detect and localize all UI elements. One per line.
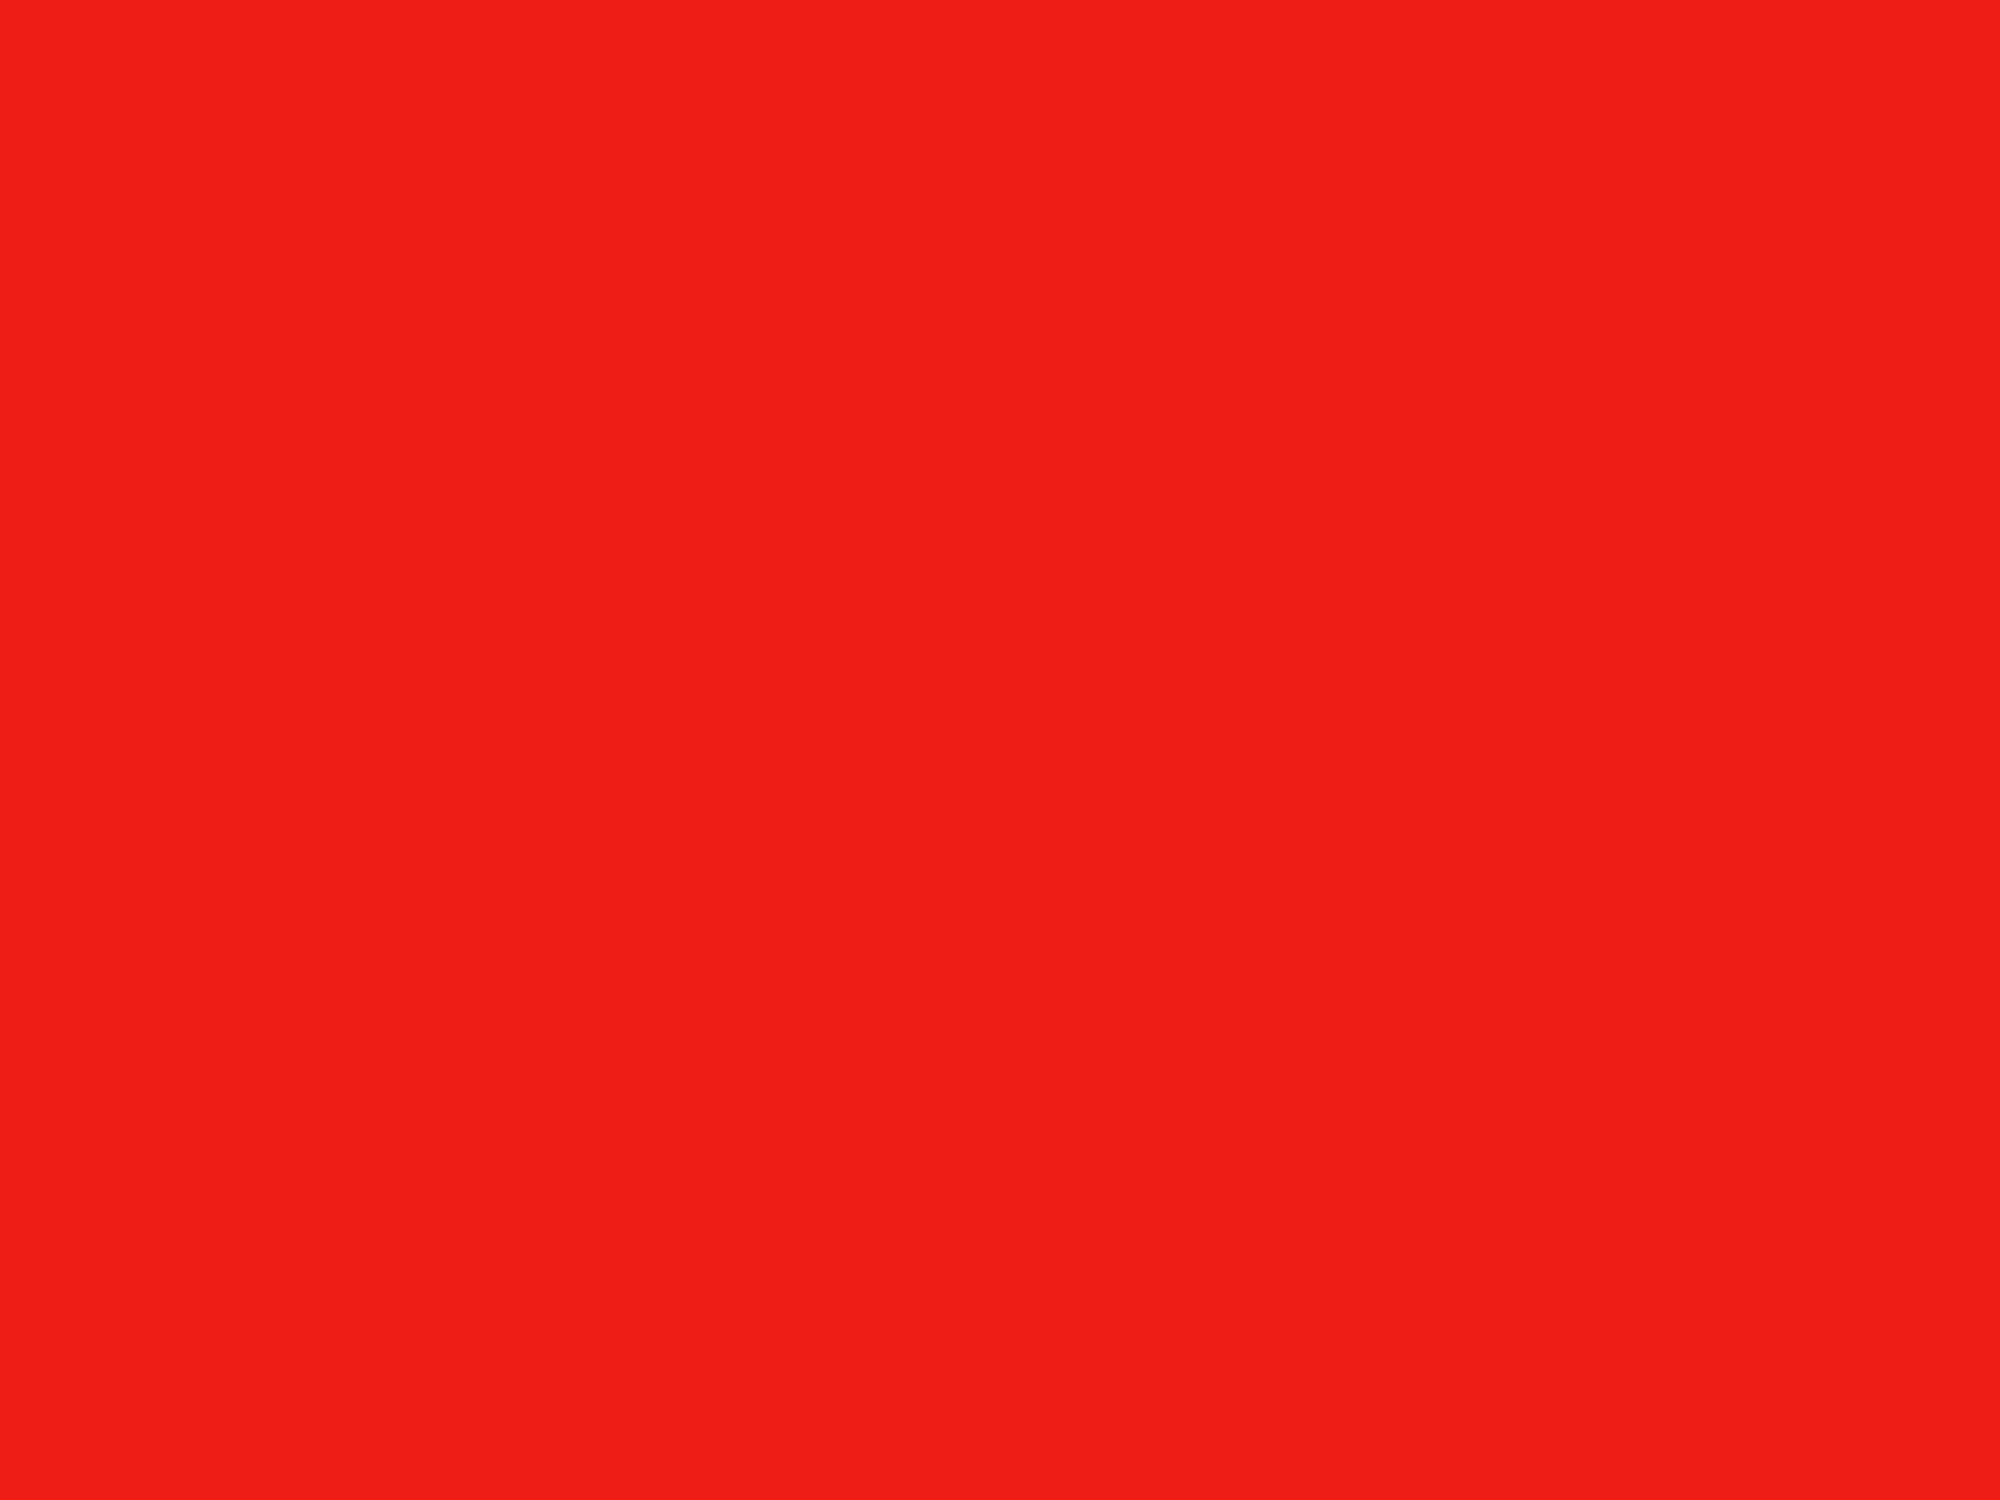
led-row-value <box>940 965 1014 971</box>
banner-segment <box>628 1249 647 1291</box>
ceiling-point-light <box>850 394 868 416</box>
ceiling-point-light <box>962 314 981 337</box>
ceiling-point-light <box>594 140 616 166</box>
led-text-block <box>870 973 888 983</box>
arrow-right-icon <box>456 1386 486 1428</box>
led-rank-column <box>910 927 935 977</box>
ceiling-point-light <box>744 448 761 469</box>
led-table-header <box>908 916 1048 927</box>
ceiling-point-light <box>1108 504 1124 524</box>
ceiling-point-light <box>952 512 968 532</box>
led-text-block <box>894 973 908 983</box>
led-text-block <box>1082 911 1092 920</box>
ceiling-point-light <box>1010 382 1028 404</box>
blue-banner-headline: 泳池设备工程一站式服务 <box>740 1370 1774 1458</box>
led-brand-mark: ＡＡ <box>1058 936 1100 966</box>
arrow-right-icon <box>422 1386 452 1428</box>
led-table-row <box>912 975 1044 986</box>
ceiling-point-light <box>902 458 919 479</box>
quality-guarantee-label: 品质保障 售后无忧 <box>1266 1133 1833 1195</box>
quality-guarantee-badge: 品质保障 售后无忧 <box>1200 1108 1869 1220</box>
led-scoreboard-screen: ▪▪▪ ＡＡ <box>807 884 1125 1000</box>
ceiling-point-light <box>374 162 391 182</box>
triple-arrow-icon <box>422 1386 520 1428</box>
ceiling-point-light <box>1197 172 1217 196</box>
ceiling-point-light <box>874 236 895 261</box>
ceiling-point-light <box>236 46 254 68</box>
led-row-value <box>940 929 1002 935</box>
promotional-image: ▪▪▪ ＡＡ <box>0 0 2000 1500</box>
led-row-value <box>940 954 992 960</box>
ceiling-point-light <box>510 230 529 252</box>
ceiling-point-light <box>582 462 599 483</box>
ceiling-point-light <box>662 62 678 81</box>
led-text-block <box>1099 911 1111 920</box>
led-text-block <box>842 944 914 951</box>
led-text-block <box>846 911 868 920</box>
arrow-right-icon <box>490 1386 520 1428</box>
ceiling-point-light <box>628 318 646 340</box>
ceiling-point-light <box>984 68 1001 88</box>
right-pillar <box>1307 582 1395 932</box>
led-header-logo: ▪▪▪ <box>935 904 950 916</box>
ceiling-point-light <box>710 226 730 250</box>
red-banner-text-group: 厂家货源 免费设计规划 <box>0 1100 620 1500</box>
red-banner-subline: 免费设计规划 <box>52 1380 406 1434</box>
led-text-block <box>876 913 890 921</box>
red-banner-headline: 厂家货源 <box>48 1230 512 1338</box>
led-row-value <box>940 941 1010 947</box>
ceiling-point-light <box>694 374 712 396</box>
banner-segment <box>646 1247 711 1290</box>
led-text-block <box>856 954 904 961</box>
ceiling-point-light <box>1062 452 1079 473</box>
ceiling-point-light <box>1094 282 1113 305</box>
led-text-block <box>1064 911 1075 920</box>
ceiling-point-light <box>797 502 813 522</box>
left-pillar <box>270 562 340 892</box>
red-banner-subline-group: 免费设计规划 <box>52 1380 520 1434</box>
ceiling-point-light <box>1352 62 1370 84</box>
ceiling-point-light <box>638 522 654 542</box>
led-text-block <box>852 934 908 941</box>
ceiling-point-light <box>1002 150 1023 175</box>
led-text-block <box>846 973 866 983</box>
ceiling-point-light <box>797 322 816 345</box>
